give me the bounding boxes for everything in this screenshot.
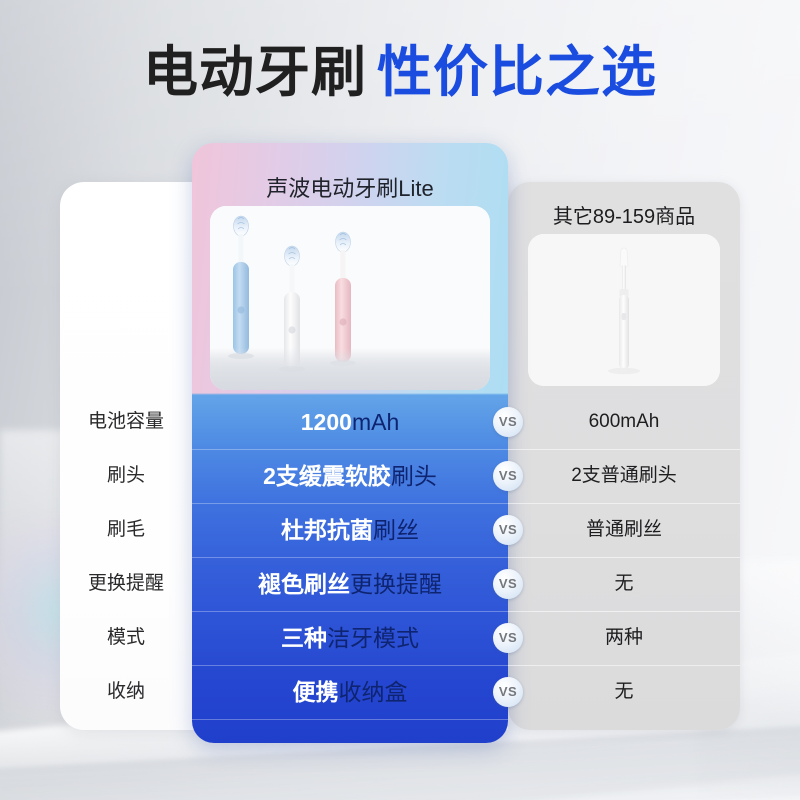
page-title: 电动牙刷性价比之选 (0, 45, 800, 100)
hero-product-card: 声波电动牙刷Lite (192, 143, 508, 743)
competitor-panel: 其它89-159商品 (508, 182, 740, 730)
white-slim-toothbrush-icon (528, 234, 720, 386)
competitor-product-photo (528, 234, 720, 386)
competitor-title: 其它89-159商品 (508, 200, 740, 229)
photo-floor-shade (210, 348, 490, 390)
hero-product-title: 声波电动牙刷Lite (192, 171, 508, 203)
infographic-root: 电动牙刷性价比之选 其它89-159商品 (0, 0, 800, 800)
page-title-primary: 电动牙刷 (143, 41, 367, 103)
page-title-accent: 性价比之选 (377, 41, 657, 103)
hero-product-photo (210, 206, 490, 390)
